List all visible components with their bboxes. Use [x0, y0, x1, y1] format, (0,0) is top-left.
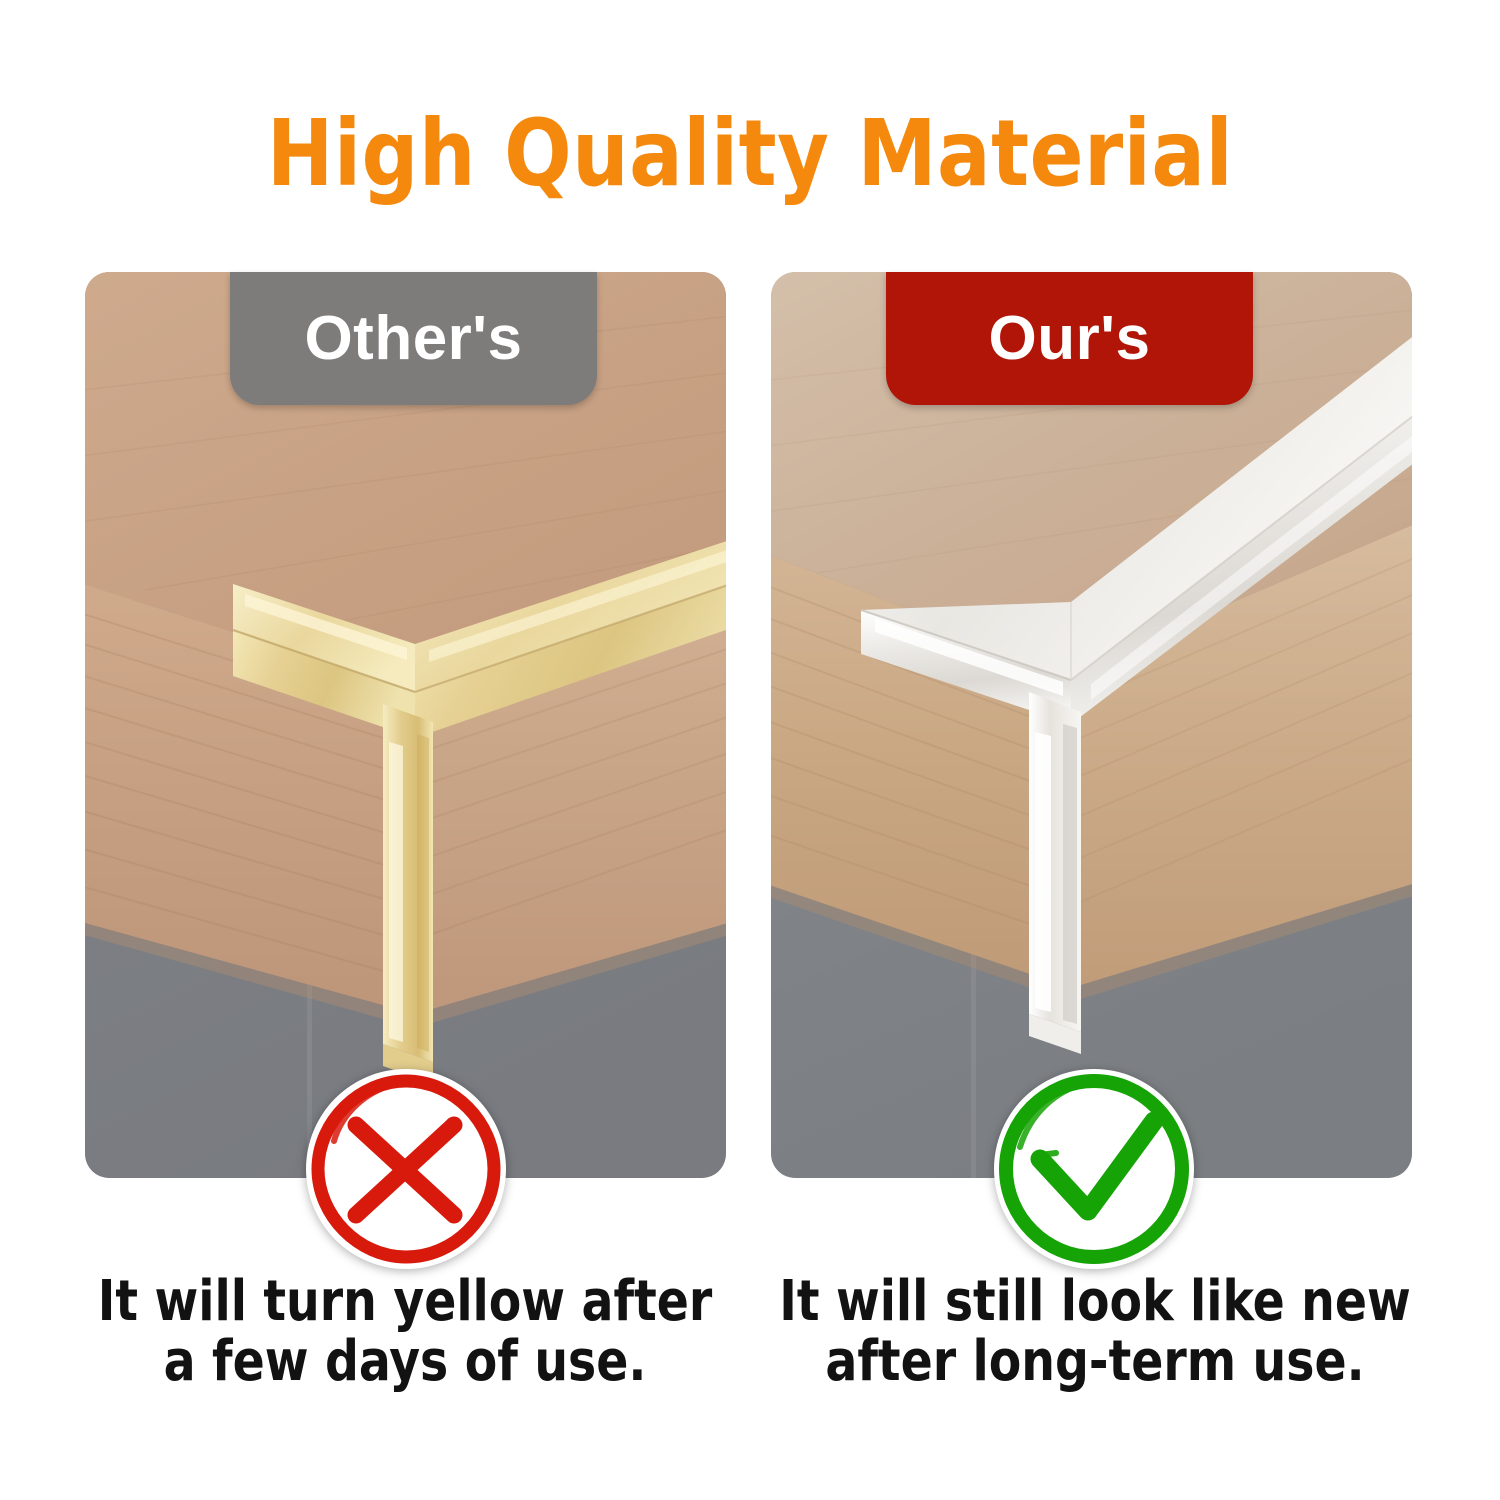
badge-other: Other's	[230, 272, 597, 405]
caption-other: It will turn yellow after a few days of …	[85, 1272, 724, 1392]
clear-edge-guard-photo	[771, 272, 1412, 1178]
page-title: High Quality Material	[30, 104, 1470, 204]
caption-our: It will still look like new after long-t…	[775, 1272, 1414, 1392]
infographic-canvas: High Quality Material	[0, 0, 1500, 1500]
badge-our: Our's	[886, 272, 1253, 405]
comparison-panel-other	[85, 272, 726, 1178]
yellowed-edge-guard-photo	[85, 272, 726, 1178]
cross-icon	[300, 1063, 512, 1275]
comparison-panel-our	[771, 272, 1412, 1178]
check-icon	[988, 1063, 1200, 1275]
